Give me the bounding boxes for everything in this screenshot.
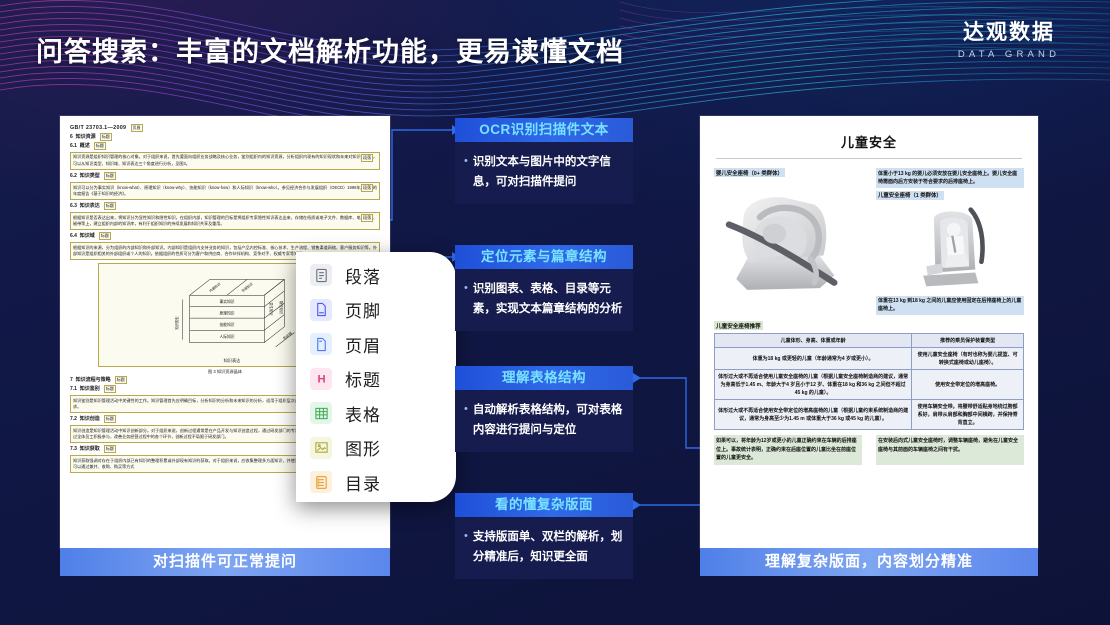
element-item-header[interactable]: 页眉 bbox=[310, 327, 456, 362]
footnote: 在安装后向式儿童安全座椅时，调整车辆座椅，避免在儿童安全座椅与其前面的车辆座椅之… bbox=[876, 435, 1024, 465]
bullet-icon: • bbox=[461, 279, 468, 298]
table-header-cell: 儿童体形、身高、体重或年龄 bbox=[715, 334, 912, 348]
callout-title: 看的懂复杂版面 bbox=[455, 493, 633, 517]
table-cell: 体形过大或不再适合使用安全带定位的增高座椅的儿童（根据儿童约束系统制造商的建议，… bbox=[715, 400, 912, 430]
table-cell: 体形过大或不再适合使用儿童安全座椅的儿童（根据儿童安全座椅制造商的建议，通常为身… bbox=[715, 370, 912, 400]
element-label: 页脚 bbox=[345, 297, 381, 322]
child-seat-illustration bbox=[876, 202, 1024, 294]
subsection-title: 知识鉴别 bbox=[80, 386, 100, 392]
svg-text:显性知识: 显性知识 bbox=[269, 303, 274, 317]
subsection-number: 6.3 bbox=[70, 203, 77, 209]
callout-ocr[interactable]: OCR识别扫描件文本 • 识别文本与图片中的文字信息，可对扫描件提问 bbox=[455, 118, 633, 204]
callout-text: 支持版面单、双栏的解析，划分精准后，知识更全面 bbox=[473, 527, 625, 568]
svg-text:技能知识: 技能知识 bbox=[220, 322, 235, 327]
element-label: 标题 bbox=[345, 366, 381, 391]
child-seat-note: 体重在13 kg 到18 kg 之间的儿童应使用固定在后排座椅上的儿童座椅上。 bbox=[876, 296, 1024, 316]
subsection-number: 6.1 bbox=[70, 143, 77, 149]
infant-seat-illustration bbox=[714, 181, 862, 299]
subsection-heading: 6.4 知识域 标题 bbox=[70, 232, 380, 241]
infant-seat-label: 婴儿安全座椅（0+ 类群体） bbox=[714, 168, 785, 177]
bullet-icon: • bbox=[461, 152, 468, 171]
footer-icon bbox=[310, 299, 332, 321]
callout-layout[interactable]: 看的懂复杂版面 • 支持版面单、双栏的解析，划分精准后，知识更全面 bbox=[455, 493, 633, 579]
section-number: 6 bbox=[70, 134, 73, 140]
table-row: 体重为18 kg 或更轻的儿童（年龄通常为4 岁或更小）。 使用儿童安全座椅（有… bbox=[715, 348, 1024, 370]
element-label: 目录 bbox=[345, 470, 381, 495]
table-header-row: 儿童体形、身高、体重或年龄 推荐的乘员保护装置类型 bbox=[715, 334, 1024, 348]
svg-text:原理知识: 原理知识 bbox=[220, 311, 235, 316]
logo-english: DATA GRAND bbox=[934, 49, 1084, 60]
element-item-table[interactable]: 表格 bbox=[310, 396, 456, 431]
element-type-panel[interactable]: 段落 页脚 页眉 H 标题 表格 图形 目录 bbox=[296, 252, 456, 502]
child-seat-column: 体重小于13 kg 的婴儿必须安放在婴儿安全座椅上。婴儿安全座椅需面向后方安装于… bbox=[876, 168, 1024, 315]
right-document-panel[interactable]: 儿童安全 婴儿安全座椅（0+ 类群体） bbox=[700, 116, 1038, 548]
child-seat-table: 儿童体形、身高、体重或年龄 推荐的乘员保护装置类型 体重为18 kg 或更轻的儿… bbox=[714, 333, 1024, 430]
doc-paragraph: 知识资源是组织知识管理的核心对象。对于组织来说，首先要面向组织业务战略及核心业务… bbox=[70, 152, 380, 170]
subsection-number: 7.3 bbox=[70, 446, 77, 452]
annotation-tag-heading: 标题 bbox=[104, 415, 116, 423]
svg-text:事实知识: 事实知识 bbox=[220, 299, 235, 304]
subsection-title: 概述 bbox=[80, 143, 90, 149]
heading-icon: H bbox=[310, 368, 332, 390]
callout-table[interactable]: 理解表格结构 • 自动解析表格结构，可对表格内容进行提问与定位 bbox=[455, 366, 633, 452]
page-title: 问答搜索：丰富的文档解析功能，更易读懂文档 bbox=[36, 30, 624, 69]
subsection-number: 7.2 bbox=[70, 416, 77, 422]
image-icon bbox=[310, 437, 332, 459]
toc-icon bbox=[310, 471, 332, 493]
paragraph-row: 知识可以分为事实知识（know-what）、原理知识（know-why）、技能知… bbox=[70, 182, 380, 200]
infant-seat-column: 婴儿安全座椅（0+ 类群体） bbox=[714, 168, 862, 315]
table-cell: 体重为18 kg 或更轻的儿童（年龄通常为4 岁或更小）。 bbox=[715, 348, 912, 370]
section-title: 知识流程与策略 bbox=[76, 377, 111, 383]
footnote-row: 如果可以，将年龄为12岁或更小的儿童正确约束在车辆的后排座位上。事故统计表明，正… bbox=[714, 435, 1024, 465]
bullet-icon: • bbox=[461, 400, 468, 419]
subsection-heading: 6.3 知识表达 标题 bbox=[70, 202, 380, 211]
standard-number: GB/T 23703.1—2009 bbox=[70, 125, 126, 131]
title-divider bbox=[716, 158, 1022, 159]
subsection-title: 知识类型 bbox=[80, 173, 100, 179]
table-icon bbox=[310, 402, 332, 424]
svg-text:隐性知识: 隐性知识 bbox=[279, 301, 284, 315]
bullet-icon: • bbox=[461, 527, 468, 546]
annotation-tag-heading: 标题 bbox=[99, 232, 111, 240]
callout-body: • 识别文本与图片中的文字信息，可对扫描件提问 bbox=[455, 142, 633, 204]
element-label: 页眉 bbox=[345, 332, 381, 357]
callout-text: 识别图表、表格、目录等元素，实现文本篇章结构的分析 bbox=[473, 279, 625, 320]
callout-text: 自动解析表格结构，可对表格内容进行提问与定位 bbox=[473, 400, 625, 441]
seat-illustration-row: 婴儿安全座椅（0+ 类群体） bbox=[714, 168, 1024, 315]
subsection-number: 6.2 bbox=[70, 173, 77, 179]
annotation-tag-heading: 标题 bbox=[94, 142, 106, 150]
footnote: 如果可以，将年龄为12岁或更小的儿童正确约束在车辆的后排座位上。事故统计表明，正… bbox=[714, 435, 862, 465]
subsection-title: 知识域 bbox=[80, 233, 95, 239]
element-label: 表格 bbox=[345, 401, 381, 426]
element-label: 图形 bbox=[345, 435, 381, 460]
table-cell: 使用儿童安全座椅（有时也称为婴儿提篮、可转换式座椅或幼儿座椅）。 bbox=[912, 348, 1024, 370]
callout-title: 定位元素与篇章结构 bbox=[455, 245, 633, 269]
annotation-tag-heading: 标题 bbox=[104, 445, 116, 453]
right-caption-bar: 理解复杂版面，内容划分精准 bbox=[700, 548, 1038, 576]
subsection-title: 知识表达 bbox=[80, 203, 100, 209]
paragraph-icon bbox=[310, 264, 332, 286]
doc-header-line: GB/T 23703.1—2009 页眉 bbox=[70, 124, 380, 133]
doc-paragraph: 知识可以分为事实知识（know-what）、原理知识（know-why）、技能知… bbox=[70, 182, 380, 200]
callout-title: OCR识别扫描件文本 bbox=[455, 118, 633, 142]
subsection-heading: 6.1 概述 标题 bbox=[70, 142, 380, 151]
svg-text:内部知识: 内部知识 bbox=[208, 281, 222, 293]
element-item-paragraph[interactable]: 段落 bbox=[310, 258, 456, 293]
svg-text:知识类型: 知识类型 bbox=[174, 316, 179, 330]
section-title: 知识资源 bbox=[76, 134, 96, 140]
table-row: 体形过大或不再适合使用安全带定位的增高座椅的儿童（根据儿童约束系统制造商的建议，… bbox=[715, 400, 1024, 430]
annotation-tag-heading: 标题 bbox=[104, 385, 116, 393]
callout-title: 理解表格结构 bbox=[455, 366, 633, 390]
element-label: 段落 bbox=[345, 263, 381, 288]
subsection-heading: 6.2 知识类型 标题 bbox=[70, 172, 380, 181]
child-seat-label: 儿童安全座椅（1 类群体） bbox=[876, 191, 944, 200]
table-cell: 使用安全带定位的增高座椅。 bbox=[912, 370, 1024, 400]
svg-text:H: H bbox=[317, 374, 325, 386]
subsection-title: 知识创造 bbox=[80, 416, 100, 422]
annotation-tag-paragraph: 段落 bbox=[361, 214, 373, 222]
annotation-tag-heading: 标题 bbox=[115, 376, 127, 384]
annotation-tag-heading: 标题 bbox=[104, 202, 116, 210]
table-header-cell: 推荐的乘员保护装置类型 bbox=[912, 334, 1024, 348]
callout-body: • 支持版面单、双栏的解析，划分精准后，知识更全面 bbox=[455, 517, 633, 579]
table-cell: 使用车辆安全带。将腰带舒适贴身地绕过胯部系好，肩带从肩部和胸部中间横跨，并保持脊… bbox=[912, 400, 1024, 430]
element-item-toc[interactable]: 目录 bbox=[310, 465, 456, 500]
annotation-tag-paragraph: 段落 bbox=[361, 154, 373, 162]
callout-body: • 自动解析表格结构，可对表格内容进行提问与定位 bbox=[455, 390, 633, 452]
annotation-tag-paragraph: 段落 bbox=[361, 184, 373, 192]
doc-paragraph: 根据知识是否表达出来，将知识分为显性知识和隐性知识。在组织内部，知识管理的目标是… bbox=[70, 212, 380, 230]
table-row: 体形过大或不再适合使用儿童安全座椅的儿童（根据儿童安全座椅制造商的建议，通常为身… bbox=[715, 370, 1024, 400]
element-item-image[interactable]: 图形 bbox=[310, 431, 456, 466]
svg-text:知识域: 知识域 bbox=[282, 330, 293, 340]
callout-structure[interactable]: 定位元素与篇章结构 • 识别图表、表格、目录等元素，实现文本篇章结构的分析 bbox=[455, 245, 633, 331]
element-item-heading[interactable]: H 标题 bbox=[310, 362, 456, 397]
left-caption-bar: 对扫描件可正常提问 bbox=[60, 548, 390, 576]
annotation-tag-heading: 标题 bbox=[104, 172, 116, 180]
annotation-tag-heading: 标题 bbox=[100, 133, 112, 141]
right-document-content: 儿童安全 婴儿安全座椅（0+ 类群体） bbox=[700, 116, 1038, 475]
brand-logo: 达观数据 DATA GRAND bbox=[934, 16, 1084, 60]
header-icon bbox=[310, 333, 332, 355]
section-heading: 6 知识资源 标题 bbox=[70, 133, 380, 142]
paragraph-row: 知识资源是组织知识管理的核心对象。对于组织来说，首先要面向组织业务战略及核心业务… bbox=[70, 152, 380, 170]
paragraph-row: 根据知识是否表达出来，将知识分为显性知识和隐性知识。在组织内部，知识管理的目标是… bbox=[70, 212, 380, 230]
infant-seat-note: 体重小于13 kg 的婴儿必须安放在婴儿安全座椅上。婴儿安全座椅需面向后方安装于… bbox=[876, 168, 1024, 188]
svg-text:人际知识: 人际知识 bbox=[220, 334, 235, 339]
subsection-number: 7.1 bbox=[70, 386, 77, 392]
section-number: 7 bbox=[70, 377, 73, 383]
svg-text:外部知识: 外部知识 bbox=[240, 281, 254, 293]
table-caption: 儿童安全座椅推荐 bbox=[714, 321, 763, 330]
callout-text: 识别文本与图片中的文字信息，可对扫描件提问 bbox=[473, 152, 625, 193]
right-doc-title: 儿童安全 bbox=[714, 126, 1024, 158]
annotation-tag-header: 页眉 bbox=[131, 124, 143, 132]
subsection-title: 知识获取 bbox=[80, 446, 100, 452]
callout-body: • 识别图表、表格、目录等元素，实现文本篇章结构的分析 bbox=[455, 269, 633, 331]
logo-chinese: 达观数据 bbox=[934, 16, 1084, 46]
element-item-footer[interactable]: 页脚 bbox=[310, 293, 456, 328]
subsection-number: 6.4 bbox=[70, 233, 77, 239]
